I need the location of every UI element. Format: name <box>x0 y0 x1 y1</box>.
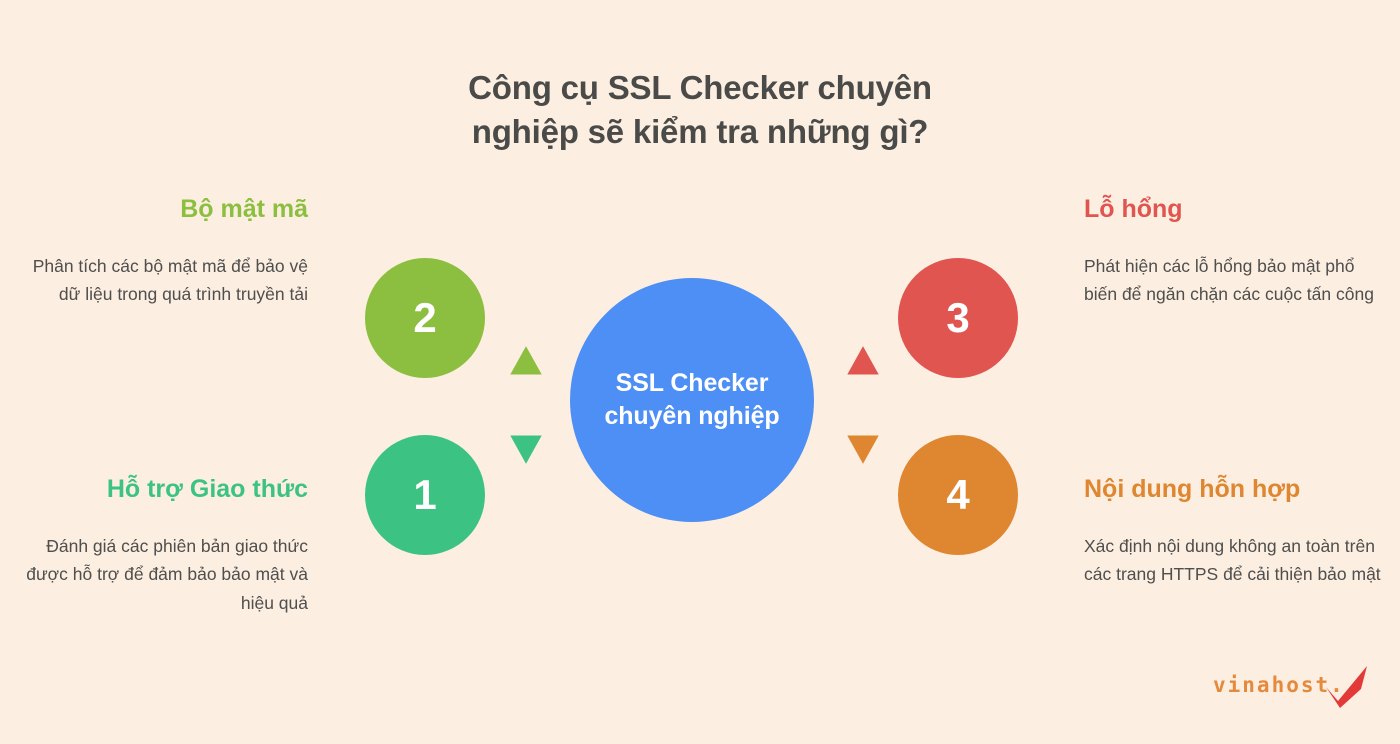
triangle-down-icon-mixed-content <box>840 428 886 474</box>
node-text-cipher-suite: Bộ mật mã Phân tích các bộ mật mã để bảo… <box>8 194 308 309</box>
check-mark-icon <box>1323 663 1371 709</box>
node-text-vulnerability: Lỗ hổng Phát hiện các lỗ hổng bảo mật ph… <box>1084 194 1384 309</box>
node-circle-vulnerability: 3 <box>898 258 1018 378</box>
node-number-4: 4 <box>946 474 969 516</box>
page-title: Công cụ SSL Checker chuyên nghiệp sẽ kiể… <box>370 66 1030 154</box>
node-heading-protocol-support: Hỗ trợ Giao thức <box>8 474 308 504</box>
node-number-2: 2 <box>413 297 436 339</box>
vinahost-logo: vinahost. <box>1205 667 1375 717</box>
triangle-down-icon-protocol-support <box>503 428 549 474</box>
node-circle-cipher-suite: 2 <box>365 258 485 378</box>
center-label-line-1: SSL Checker <box>616 369 769 397</box>
node-body-protocol-support: Đánh giá các phiên bản giao thức được hỗ… <box>8 532 308 617</box>
page-title-line-1: Công cụ SSL Checker chuyên <box>468 69 932 106</box>
node-heading-cipher-suite: Bộ mật mã <box>8 194 308 224</box>
node-text-mixed-content: Nội dung hỗn hợp Xác định nội dung không… <box>1084 474 1384 589</box>
node-heading-mixed-content: Nội dung hỗn hợp <box>1084 474 1384 504</box>
node-body-cipher-suite: Phân tích các bộ mật mã để bảo vệ dữ liệ… <box>8 252 308 309</box>
infographic-canvas: Công cụ SSL Checker chuyên nghiệp sẽ kiể… <box>0 0 1400 744</box>
node-circle-protocol-support: 1 <box>365 435 485 555</box>
triangle-up-icon-cipher-suite <box>503 336 549 382</box>
node-circle-mixed-content: 4 <box>898 435 1018 555</box>
node-text-protocol-support: Hỗ trợ Giao thức Đánh giá các phiên bản … <box>8 474 308 617</box>
node-body-mixed-content: Xác định nội dung không an toàn trên các… <box>1084 532 1384 589</box>
node-body-vulnerability: Phát hiện các lỗ hổng bảo mật phổ biến đ… <box>1084 252 1384 309</box>
center-label-line-2: chuyên nghiệp <box>604 402 779 430</box>
node-heading-vulnerability: Lỗ hổng <box>1084 194 1384 224</box>
center-circle: SSL Checker chuyên nghiệp <box>570 278 814 522</box>
triangle-up-icon-vulnerability <box>840 336 886 382</box>
node-number-1: 1 <box>413 474 436 516</box>
node-number-3: 3 <box>946 297 969 339</box>
center-circle-label: SSL Checker chuyên nghiệp <box>604 367 779 433</box>
page-title-line-2: nghiệp sẽ kiểm tra những gì? <box>472 113 929 150</box>
